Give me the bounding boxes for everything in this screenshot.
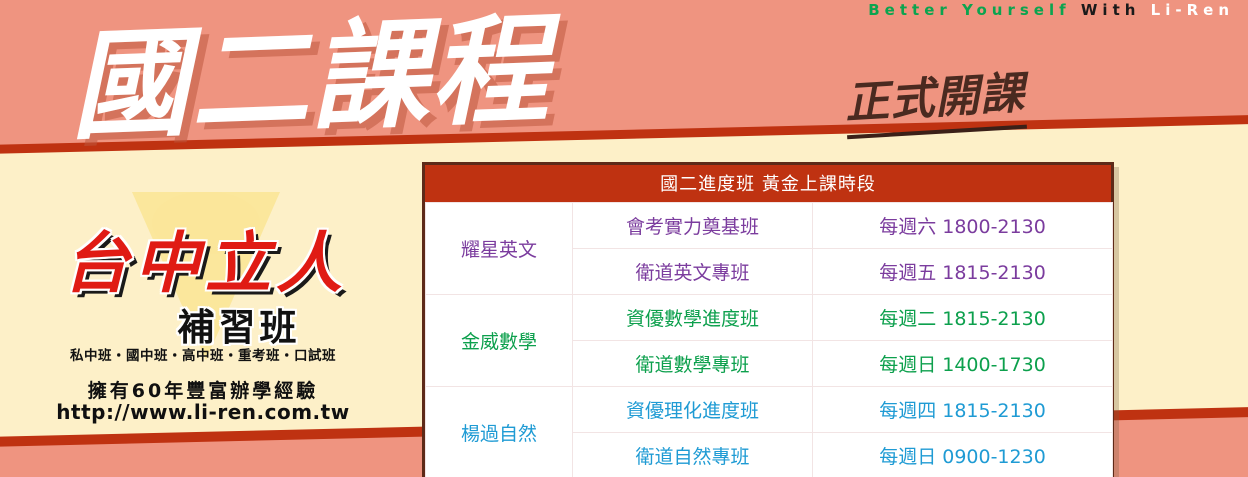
class-name-cell: 資優數學進度班: [573, 295, 813, 341]
logo-website-url: http://www.li-ren.com.tw: [24, 400, 382, 424]
logo-name-main: 台中立人: [30, 210, 380, 306]
tagline-word-with: With: [1081, 1, 1141, 19]
class-name-cell: 衛道數學專班: [573, 341, 813, 387]
page-title: 國二課程: [68, 1, 553, 154]
class-time-cell: 每週四 1815-2130: [813, 387, 1113, 433]
logo-name-sub: 補習班: [94, 297, 384, 351]
tagline-word-liren: Li-Ren: [1151, 1, 1234, 19]
table-row: 楊過自然資優理化進度班每週四 1815-2130: [426, 387, 1113, 433]
subject-cell: 耀星英文: [426, 203, 573, 295]
class-time-cell: 每週日 0900-1230: [813, 433, 1113, 477]
subheadline-container: 正式開課: [843, 57, 1027, 140]
logo-course-tags: 私中班・國中班・高中班・重考班・口試班: [24, 344, 382, 364]
class-name-cell: 衛道英文專班: [573, 249, 813, 295]
schedule-title: 國二進度班 黃金上課時段: [425, 165, 1111, 202]
class-time-cell: 每週日 1400-1730: [813, 341, 1113, 387]
subject-cell: 金威數學: [426, 295, 573, 387]
class-name-cell: 資優理化進度班: [573, 387, 813, 433]
class-name-cell: 衛道自然專班: [573, 433, 813, 477]
headline-container: 國二課程: [68, 1, 553, 154]
schedule-card: 國二進度班 黃金上課時段 耀星英文會考實力奠基班每週六 1800-2130衛道英…: [422, 162, 1114, 477]
class-name-cell: 會考實力奠基班: [573, 203, 813, 249]
page-subtitle: 正式開課: [843, 57, 1027, 140]
class-time-cell: 每週五 1815-2130: [813, 249, 1113, 295]
schedule-table: 耀星英文會考實力奠基班每週六 1800-2130衛道英文專班每週五 1815-2…: [425, 202, 1113, 477]
tagline: Better Yourself With Li-Ren: [868, 1, 1234, 19]
tagline-word-yourself: Yourself: [962, 1, 1071, 19]
table-row: 金威數學資優數學進度班每週二 1815-2130: [426, 295, 1113, 341]
promo-banner: Better Yourself With Li-Ren 國二課程 正式開課 台中…: [0, 0, 1248, 477]
subject-cell: 楊過自然: [426, 387, 573, 477]
logo-experience-line: 擁有60年豐富辦學經驗: [24, 376, 382, 403]
table-row: 耀星英文會考實力奠基班每週六 1800-2130: [426, 203, 1113, 249]
tagline-word-better: Better: [868, 1, 952, 19]
brand-logo: 台中立人 補習班 私中班・國中班・高中班・重考班・口試班 擁有60年豐富辦學經驗…: [24, 192, 384, 427]
class-time-cell: 每週六 1800-2130: [813, 203, 1113, 249]
class-time-cell: 每週二 1815-2130: [813, 295, 1113, 341]
